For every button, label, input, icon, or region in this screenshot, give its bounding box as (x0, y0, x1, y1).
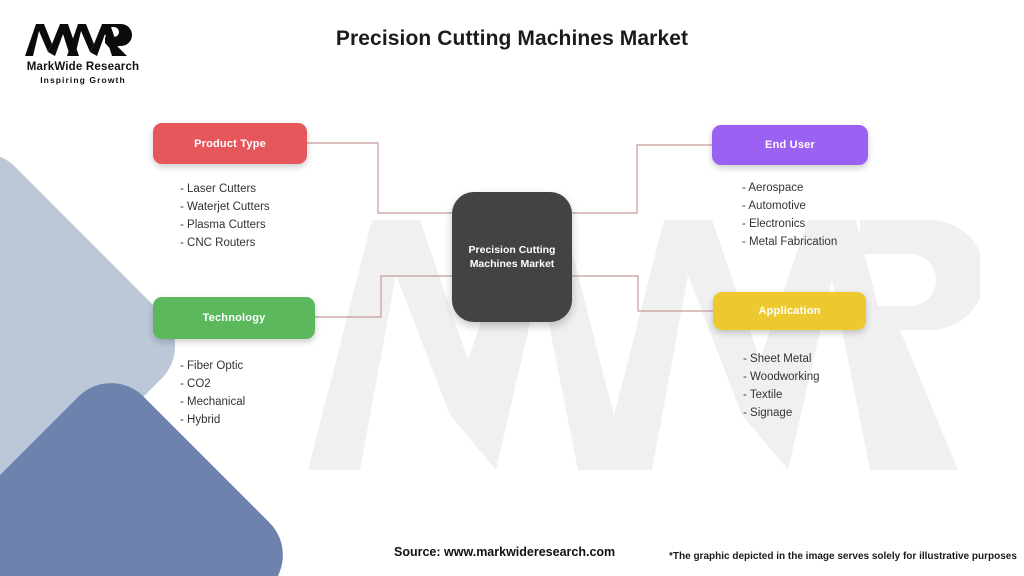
list-item: - Metal Fabrication (742, 233, 868, 251)
watermark-mwr (300, 200, 980, 490)
category-technology: Technology - Fiber Optic - CO2 - Mechani… (153, 297, 315, 430)
category-label-product-type: Product Type (194, 138, 266, 150)
category-list-end-user: - Aerospace - Automotive - Electronics -… (742, 179, 868, 252)
infographic-canvas: MarkWide Research Inspiring Growth Preci… (0, 0, 1024, 576)
center-node-line2: Machines Market (470, 258, 555, 270)
list-item: - Electronics (742, 215, 868, 233)
list-item: - Automotive (742, 197, 868, 215)
category-list-technology: - Fiber Optic - CO2 - Mechanical - Hybri… (180, 357, 315, 430)
category-product-type: Product Type - Laser Cutters - Waterjet … (153, 123, 307, 253)
list-item: - Signage (743, 404, 866, 422)
category-box-application[interactable]: Application (713, 292, 866, 330)
category-list-application: - Sheet Metal - Woodworking - Textile - … (743, 350, 866, 423)
list-item: - CO2 (180, 375, 315, 393)
connector-application (572, 276, 713, 311)
list-item: - Sheet Metal (743, 350, 866, 368)
list-item: - Plasma Cutters (180, 216, 307, 234)
category-box-technology[interactable]: Technology (153, 297, 315, 339)
category-box-product-type[interactable]: Product Type (153, 123, 307, 164)
logo-company-name: MarkWide Research (18, 61, 148, 73)
list-item: - Woodworking (743, 368, 866, 386)
category-label-application: Application (758, 305, 820, 317)
center-node: Precision Cutting Machines Market (452, 192, 572, 322)
page-title: Precision Cutting Machines Market (0, 27, 1024, 51)
disclaimer-text: *The graphic depicted in the image serve… (669, 551, 1017, 562)
source-text: Source: www.markwideresearch.com (394, 545, 615, 559)
list-item: - Hybrid (180, 411, 315, 429)
connector-product-type (307, 143, 452, 213)
category-end-user: End User - Aerospace - Automotive - Elec… (712, 125, 868, 252)
center-node-line1: Precision Cutting (469, 244, 556, 256)
category-label-end-user: End User (765, 139, 815, 151)
logo-tagline: Inspiring Growth (18, 75, 148, 85)
category-list-product-type: - Laser Cutters - Waterjet Cutters - Pla… (180, 180, 307, 253)
list-item: - Mechanical (180, 393, 315, 411)
list-item: - Textile (743, 386, 866, 404)
center-node-label: Precision Cutting Machines Market (461, 243, 564, 271)
list-item: - Aerospace (742, 179, 868, 197)
connector-end-user (572, 145, 712, 213)
list-item: - Waterjet Cutters (180, 198, 307, 216)
category-label-technology: Technology (203, 312, 266, 324)
list-item: - Fiber Optic (180, 357, 315, 375)
category-application: Application - Sheet Metal - Woodworking … (713, 292, 866, 423)
list-item: - CNC Routers (180, 234, 307, 252)
connector-technology (315, 276, 452, 317)
category-box-end-user[interactable]: End User (712, 125, 868, 165)
list-item: - Laser Cutters (180, 180, 307, 198)
